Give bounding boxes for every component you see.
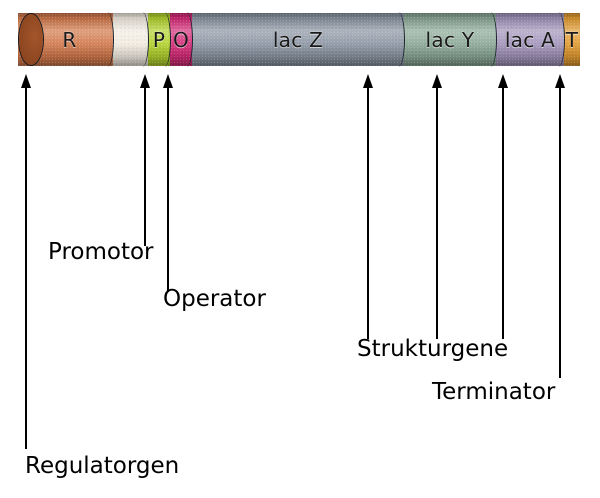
label-regulatorgen: Regulatorgen — [25, 455, 179, 478]
arrow-strukturgen-a — [496, 74, 509, 339]
arrow-operator — [161, 74, 174, 292]
segment-label-promoter: P — [148, 13, 170, 66]
label-terminator: Terminator — [432, 381, 555, 404]
diagram-canvas: RPOlac Zlac Ylac AT PromotorOperatorStru… — [0, 0, 600, 498]
arrow-head-icon — [140, 74, 150, 88]
arrow-head-icon — [432, 74, 442, 88]
arrow-head-icon — [21, 74, 31, 88]
arrow-shaft — [167, 85, 169, 292]
arrow-regulatorgen — [19, 74, 32, 449]
segment-label-lac-z: lac Z — [192, 13, 404, 66]
arrow-shaft — [559, 85, 561, 378]
operon-segment-spacer[interactable] — [113, 13, 148, 66]
arrow-shaft — [502, 85, 504, 339]
label-strukturgene: Strukturgene — [357, 338, 508, 361]
arrow-shaft — [436, 85, 438, 339]
arrow-head-icon — [555, 74, 565, 88]
segment-label-lac-y: lac Y — [404, 13, 496, 66]
arrow-terminator — [553, 74, 566, 378]
segment-grain — [113, 13, 148, 66]
arrow-shaft — [144, 85, 146, 246]
arrow-head-icon — [363, 74, 373, 88]
segment-label-operator: O — [170, 13, 192, 66]
arrow-promotor — [138, 74, 151, 246]
arrow-head-icon — [498, 74, 508, 88]
label-promotor: Promotor — [48, 241, 154, 264]
lac-operon-cylinder: RPOlac Zlac Ylac AT — [18, 13, 580, 66]
arrow-head-icon — [163, 74, 173, 88]
arrow-strukturgen-z — [361, 74, 374, 339]
segment-label-lac-a: lac A — [496, 13, 564, 66]
arrow-shaft — [25, 85, 27, 449]
segment-label-regulator-gene: R — [18, 13, 113, 66]
arrow-shaft — [367, 85, 369, 339]
segment-label-terminator: T — [564, 13, 580, 66]
label-operator: Operator — [163, 288, 266, 311]
arrow-strukturgen-y — [430, 74, 443, 339]
